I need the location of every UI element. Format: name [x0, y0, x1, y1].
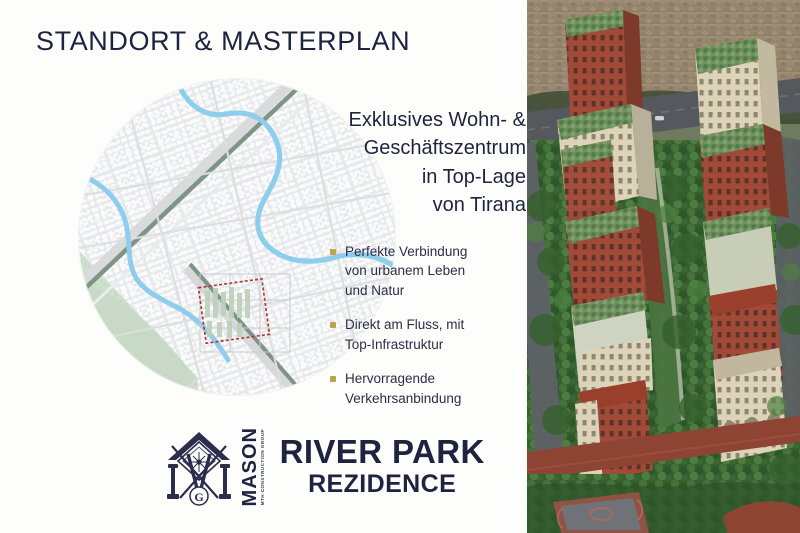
project-type: REZIDENCE: [280, 471, 485, 499]
headline-line-1: Exklusives Wohn- &: [330, 106, 526, 134]
left-content-panel: STANDORT & MASTERPLAN: [0, 0, 527, 533]
presentation-slide: STANDORT & MASTERPLAN: [0, 0, 800, 533]
bullet-line-2: Top-Infrastruktur: [345, 337, 443, 352]
bullet-line-1: Perfekte Verbindung: [345, 244, 467, 259]
project-name: RIVER PARK: [280, 435, 485, 469]
list-item: Hervorragende Verkehrsanbindung: [330, 369, 526, 408]
aerial-render-graphic: [527, 0, 800, 533]
headline-line-4: von Tirana: [330, 191, 526, 219]
bullet-text: Hervorragende Verkehrsanbindung: [345, 369, 461, 408]
list-item: Direkt am Fluss, mit Top-Infrastruktur: [330, 315, 526, 354]
bullet-dot-icon: [330, 249, 336, 255]
aerial-render-photo: [527, 0, 800, 533]
bullet-dot-icon: [330, 376, 336, 382]
bullet-line-3: und Natur: [345, 283, 404, 298]
mason-wordmark: MASON MTH CONSTRUCTION GROUP: [240, 424, 266, 510]
brand-logo-row: G MASON MTH CONSTRUCTION GROUP RIVER PAR…: [160, 424, 485, 510]
bullet-line-1: Direkt am Fluss, mit: [345, 317, 464, 332]
feature-bullet-list: Perfekte Verbindung von urbanem Leben un…: [330, 242, 526, 409]
mason-tagline: MTH CONSTRUCTION GROUP: [261, 429, 266, 505]
page-title: STANDORT & MASTERPLAN: [36, 26, 410, 57]
bullet-dot-icon: [330, 322, 336, 328]
mason-company-name: MASON: [240, 427, 260, 506]
emblem-letter: G: [194, 490, 203, 504]
masonic-emblem-icon: G: [160, 424, 238, 510]
headline-line-2: Geschäftszentrum: [330, 134, 526, 162]
headline-line-3: in Top-Lage: [330, 163, 526, 191]
headline: Exklusives Wohn- & Geschäftszentrum in T…: [330, 106, 526, 220]
bullet-text: Direkt am Fluss, mit Top-Infrastruktur: [345, 315, 464, 354]
bullet-text: Perfekte Verbindung von urbanem Leben un…: [345, 242, 467, 301]
bullet-line-1: Hervorragende: [345, 371, 435, 386]
bullet-line-2: Verkehrsanbindung: [345, 391, 461, 406]
building-left-bottom: [575, 380, 653, 488]
bullet-line-2: von urbanem Leben: [345, 263, 465, 278]
copy-column: Exklusives Wohn- & Geschäftszentrum in T…: [330, 106, 526, 424]
list-item: Perfekte Verbindung von urbanem Leben un…: [330, 242, 526, 301]
project-brand: RIVER PARK REZIDENCE: [280, 435, 485, 498]
